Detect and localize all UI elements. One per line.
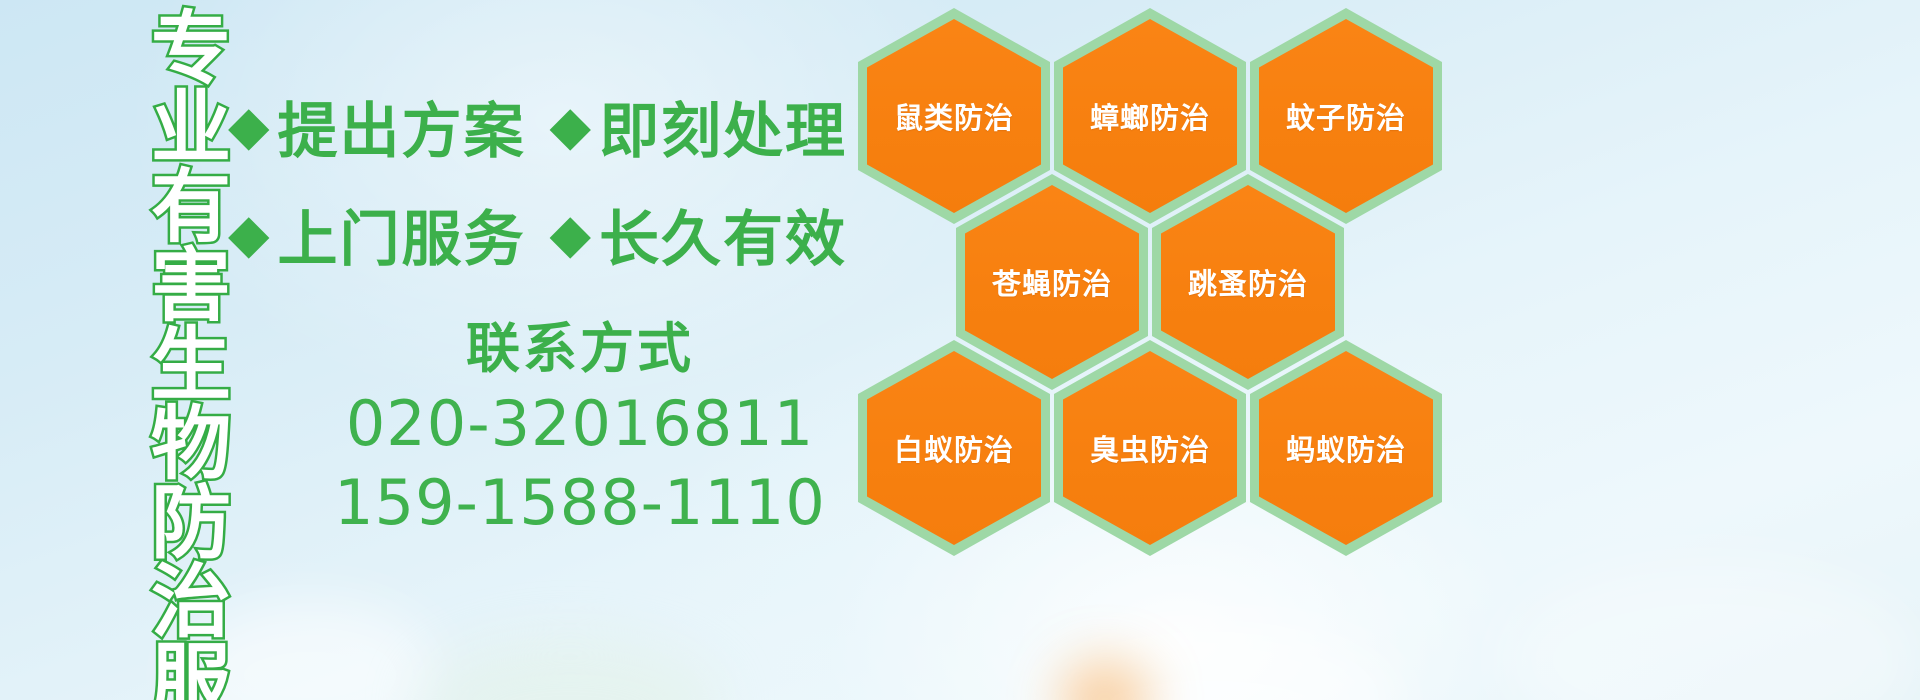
background-blur-blob: [1020, 620, 1400, 700]
phone-number-landline[interactable]: 020-32016811: [300, 384, 860, 463]
service-hex-label: 臭虫防治: [1090, 427, 1210, 469]
feature-list: ◆ 提出方案 ◆ 即刻处理 ◆ 上门服务 ◆ 长久有效: [228, 72, 868, 288]
feature-label: 即刻处理: [599, 83, 847, 170]
service-hex-label: 蟑螂防治: [1090, 95, 1210, 137]
hex-fill: 跳蚤防治: [1161, 185, 1335, 379]
phone-number-mobile[interactable]: 159-1588-1110: [300, 463, 860, 542]
contact-label: 联系方式: [300, 316, 860, 384]
diamond-bullet-icon: ◆: [550, 99, 594, 153]
feature-label: 长久有效: [599, 191, 847, 278]
hex-fill: 苍蝇防治: [965, 185, 1139, 379]
service-hex-label: 跳蚤防治: [1188, 261, 1308, 303]
service-hex-label: 白蚁防治: [894, 427, 1014, 469]
hex-fill: 白蚁防治: [867, 351, 1041, 545]
diamond-bullet-icon: ◆: [228, 207, 272, 261]
service-hex-label: 鼠类防治: [894, 95, 1014, 137]
background-blur-blob: [420, 640, 720, 700]
feature-label: 上门服务: [278, 191, 526, 278]
service-hex-label: 苍蝇防治: [992, 261, 1112, 303]
feature-row: ◆ 上门服务 ◆ 长久有效: [228, 180, 868, 288]
hex-fill: 鼠类防治: [867, 19, 1041, 213]
service-honeycomb: 鼠类防治 蟑螂防治 蚊子防治 苍蝇防治 跳蚤防治 白蚁防治: [858, 0, 1458, 550]
hex-fill: 蟑螂防治: [1063, 19, 1237, 213]
contact-block: 联系方式 020-32016811 159-1588-1110: [300, 316, 860, 542]
hex-fill: 臭虫防治: [1063, 351, 1237, 545]
promo-banner: 专业有害生物防治服务 ◆ 提出方案 ◆ 即刻处理 ◆ 上门服务 ◆ 长久有效 联…: [0, 0, 1920, 700]
feature-label: 提出方案: [278, 83, 526, 170]
hex-fill: 蚂蚁防治: [1259, 351, 1433, 545]
feature-row: ◆ 提出方案 ◆ 即刻处理: [228, 72, 868, 180]
service-hex-label: 蚂蚁防治: [1286, 427, 1406, 469]
service-hex-label: 蚊子防治: [1286, 95, 1406, 137]
diamond-bullet-icon: ◆: [228, 99, 272, 153]
hex-fill: 蚊子防治: [1259, 19, 1433, 213]
diamond-bullet-icon: ◆: [550, 207, 594, 261]
background-blur-blob: [1500, 560, 1920, 700]
vertical-headline: 专业有害生物防治服务: [104, 6, 222, 700]
background-blur-blob: [1060, 660, 1150, 700]
